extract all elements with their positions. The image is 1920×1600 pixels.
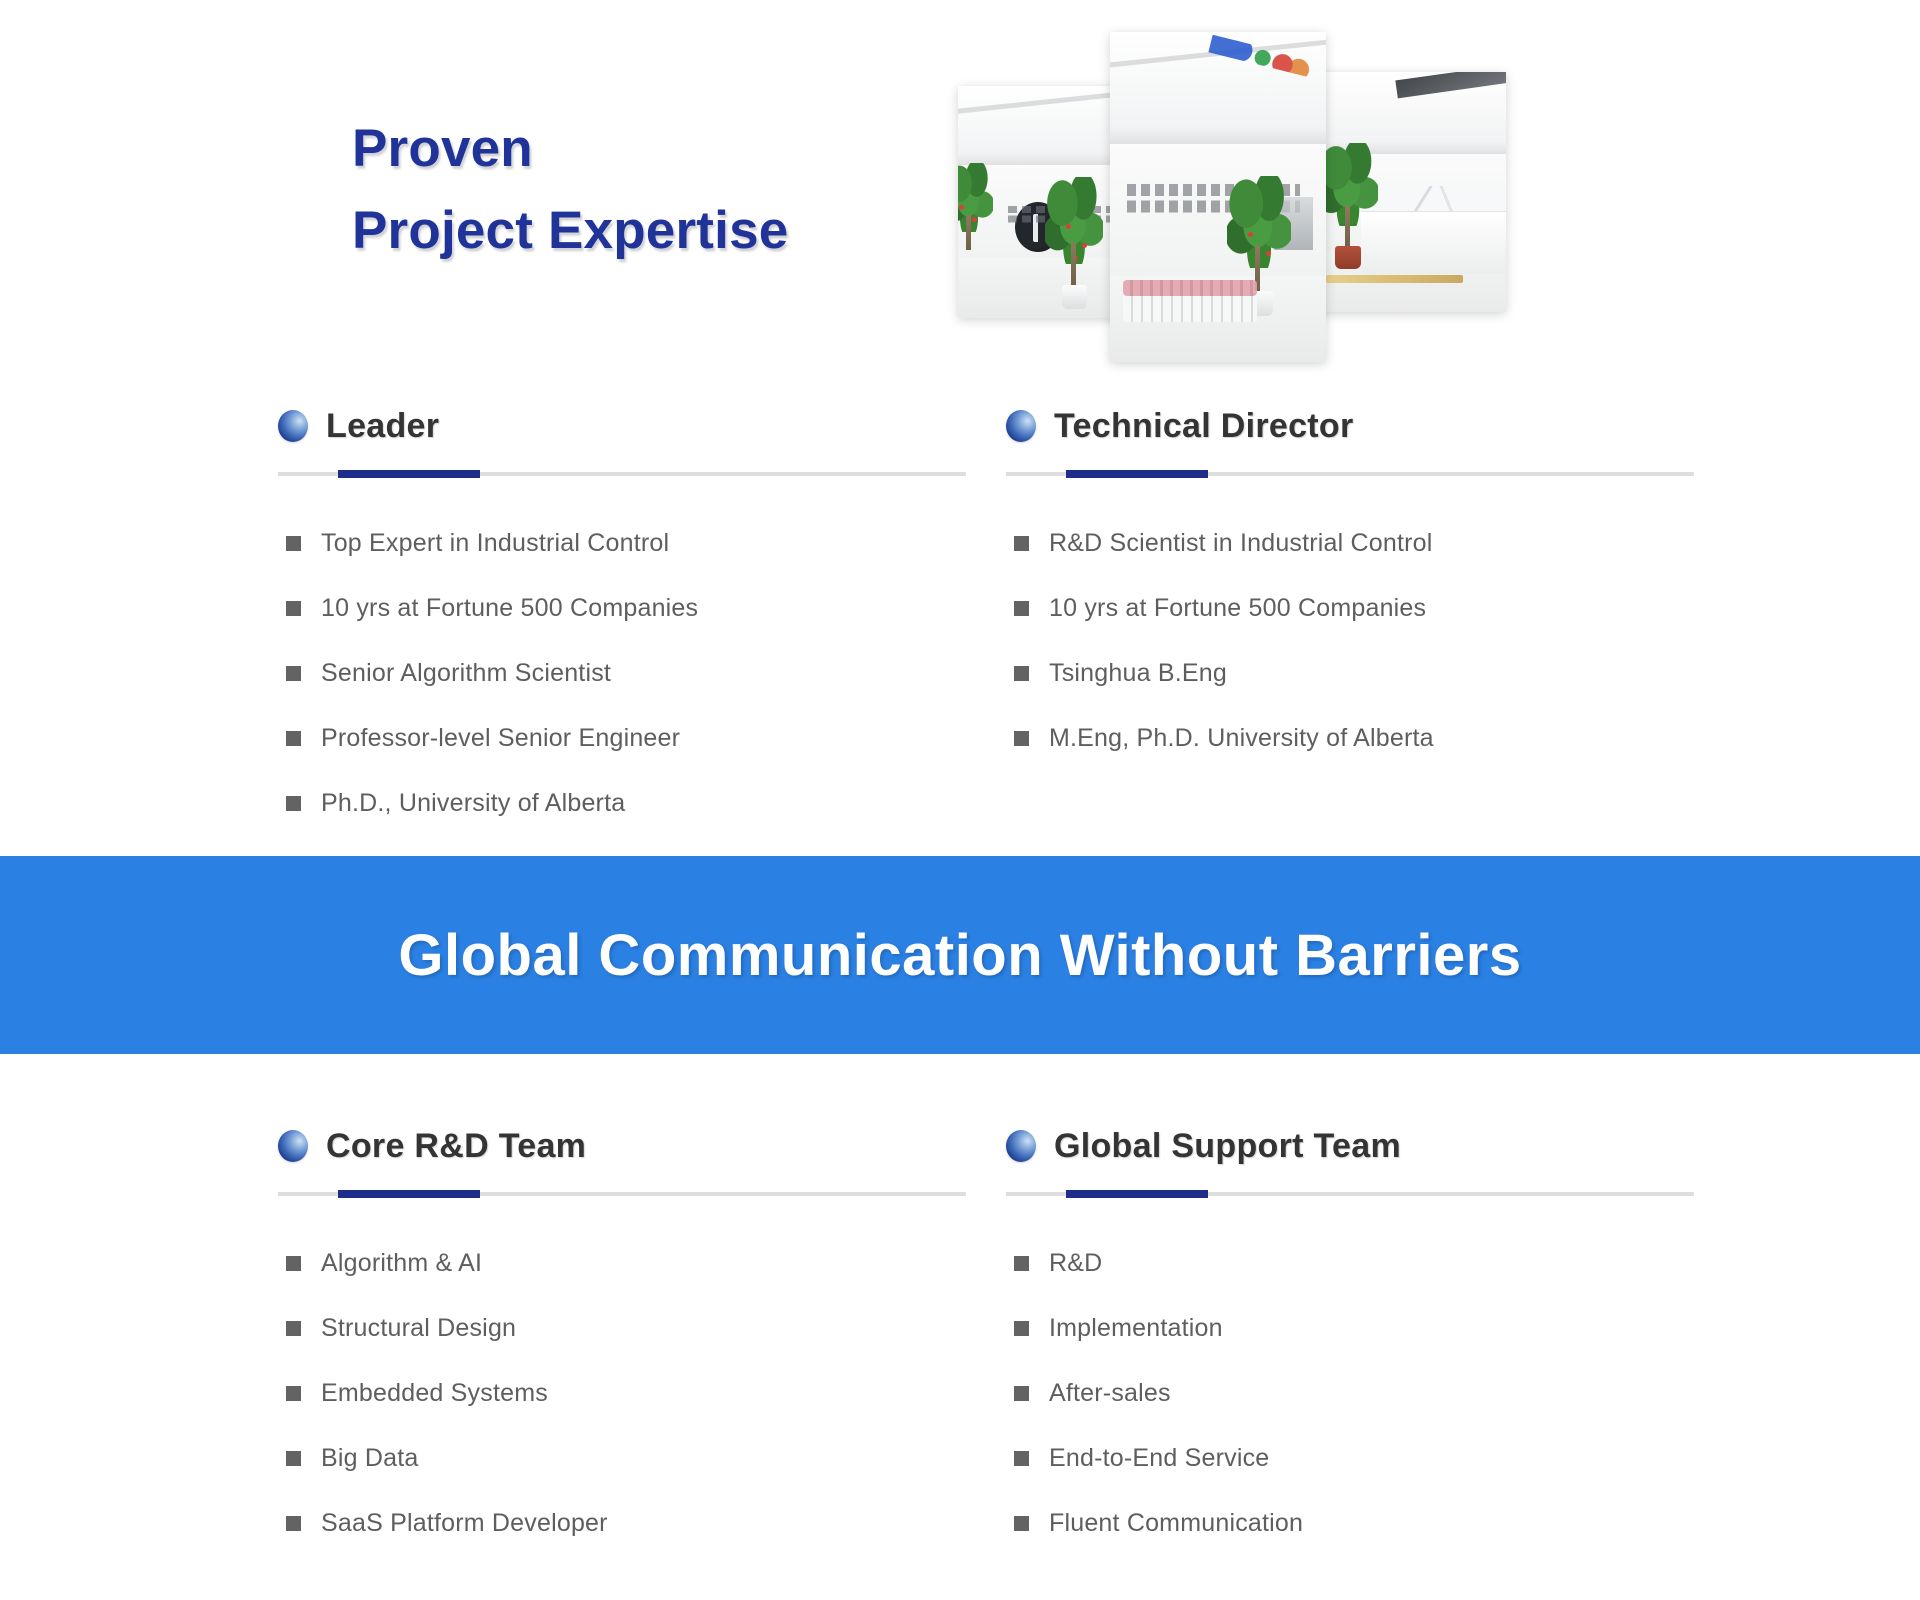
technical-director-column: Technical Director R&D Scientist in Indu…: [988, 398, 1698, 836]
list-item: 10 yrs at Fortune 500 Companies: [278, 576, 988, 641]
list-item-label: R&D: [1049, 1249, 1102, 1278]
divider-accent: [338, 1190, 480, 1198]
square-bullet-icon: [1014, 1256, 1029, 1271]
list-item: 10 yrs at Fortune 500 Companies: [1006, 576, 1698, 641]
divider-accent: [1066, 1190, 1208, 1198]
list-item: Algorithm & AI: [278, 1231, 988, 1296]
global-support-team-header: Global Support Team: [1006, 1118, 1698, 1174]
square-bullet-icon: [286, 1256, 301, 1271]
list-item-label: Algorithm & AI: [321, 1249, 482, 1278]
list-item: Big Data: [278, 1426, 988, 1491]
square-bullet-icon: [1014, 1516, 1029, 1531]
technical-director-header: Technical Director: [1006, 398, 1698, 454]
square-bullet-icon: [286, 1386, 301, 1401]
list-item-label: 10 yrs at Fortune 500 Companies: [321, 594, 698, 623]
sphere-bullet-icon: [1006, 410, 1036, 442]
global-support-team-column: Global Support Team R&D Implementation A…: [988, 1118, 1698, 1556]
list-item-label: R&D Scientist in Industrial Control: [1049, 529, 1433, 558]
global-support-team-divider: [1006, 1190, 1694, 1197]
sphere-bullet-icon: [1006, 1130, 1036, 1162]
list-item: R&D Scientist in Industrial Control: [1006, 511, 1698, 576]
square-bullet-icon: [286, 601, 301, 616]
page-title-line-1: Proven: [352, 108, 788, 190]
square-bullet-icon: [1014, 1451, 1029, 1466]
technical-director-title: Technical Director: [1054, 407, 1354, 446]
list-item-label: After-sales: [1049, 1379, 1171, 1408]
square-bullet-icon: [1014, 601, 1029, 616]
list-item-label: Professor-level Senior Engineer: [321, 724, 680, 753]
list-item: Embedded Systems: [278, 1361, 988, 1426]
list-item: Implementation: [1006, 1296, 1698, 1361]
photo-collage: [958, 32, 1506, 370]
office-lobby-corridor-photo: [1110, 32, 1326, 362]
list-item: R&D: [1006, 1231, 1698, 1296]
leadership-section: Leader Top Expert in Industrial Control …: [278, 398, 1698, 836]
teams-section: Core R&D Team Algorithm & AI Structural …: [278, 1118, 1698, 1556]
square-bullet-icon: [286, 1516, 301, 1531]
square-bullet-icon: [286, 731, 301, 746]
square-bullet-icon: [286, 666, 301, 681]
divider-accent: [338, 470, 480, 478]
leader-divider: [278, 470, 966, 477]
core-rd-team-column: Core R&D Team Algorithm & AI Structural …: [278, 1118, 988, 1556]
square-bullet-icon: [1014, 536, 1029, 551]
core-rd-team-divider: [278, 1190, 966, 1197]
list-item-label: Fluent Communication: [1049, 1509, 1303, 1538]
leader-title: Leader: [326, 407, 439, 446]
list-item-label: 10 yrs at Fortune 500 Companies: [1049, 594, 1426, 623]
global-support-team-title: Global Support Team: [1054, 1127, 1401, 1166]
page-title-line-2: Project Expertise: [352, 190, 788, 272]
list-item: Ph.D., University of Alberta: [278, 771, 988, 836]
list-item: Fluent Communication: [1006, 1491, 1698, 1556]
office-entrance-wall-logo-photo: [958, 86, 1126, 318]
banner-title: Global Communication Without Barriers: [398, 922, 1521, 989]
list-item: Top Expert in Industrial Control: [278, 511, 988, 576]
office-reception-desk-photo: [1310, 72, 1506, 312]
square-bullet-icon: [286, 1451, 301, 1466]
core-rd-team-list: Algorithm & AI Structural Design Embedde…: [278, 1231, 988, 1556]
list-item: Structural Design: [278, 1296, 988, 1361]
leader-column: Leader Top Expert in Industrial Control …: [278, 398, 988, 836]
square-bullet-icon: [1014, 666, 1029, 681]
list-item-label: Ph.D., University of Alberta: [321, 789, 625, 818]
list-item: M.Eng, Ph.D. University of Alberta: [1006, 706, 1698, 771]
list-item-label: Structural Design: [321, 1314, 516, 1343]
sphere-bullet-icon: [278, 1130, 308, 1162]
divider-accent: [1066, 470, 1208, 478]
list-item-label: Senior Algorithm Scientist: [321, 659, 611, 688]
list-item-label: Tsinghua B.Eng: [1049, 659, 1227, 688]
list-item: Senior Algorithm Scientist: [278, 641, 988, 706]
list-item: Tsinghua B.Eng: [1006, 641, 1698, 706]
list-item-label: M.Eng, Ph.D. University of Alberta: [1049, 724, 1434, 753]
square-bullet-icon: [286, 796, 301, 811]
list-item-label: Big Data: [321, 1444, 419, 1473]
global-support-team-list: R&D Implementation After-sales End-to-En…: [1006, 1231, 1698, 1556]
square-bullet-icon: [1014, 731, 1029, 746]
core-rd-team-title: Core R&D Team: [326, 1127, 586, 1166]
technical-director-list: R&D Scientist in Industrial Control 10 y…: [1006, 511, 1698, 771]
leader-header: Leader: [278, 398, 988, 454]
list-item: SaaS Platform Developer: [278, 1491, 988, 1556]
square-bullet-icon: [1014, 1321, 1029, 1336]
technical-director-divider: [1006, 470, 1694, 477]
page-title: Proven Project Expertise: [352, 108, 788, 272]
sphere-bullet-icon: [278, 410, 308, 442]
list-item: Professor-level Senior Engineer: [278, 706, 988, 771]
core-rd-team-header: Core R&D Team: [278, 1118, 988, 1174]
list-item-label: Top Expert in Industrial Control: [321, 529, 669, 558]
list-item: After-sales: [1006, 1361, 1698, 1426]
list-item-label: SaaS Platform Developer: [321, 1509, 608, 1538]
global-communication-banner: Global Communication Without Barriers: [0, 856, 1920, 1054]
square-bullet-icon: [286, 536, 301, 551]
square-bullet-icon: [286, 1321, 301, 1336]
list-item-label: End-to-End Service: [1049, 1444, 1269, 1473]
list-item: End-to-End Service: [1006, 1426, 1698, 1491]
square-bullet-icon: [1014, 1386, 1029, 1401]
list-item-label: Implementation: [1049, 1314, 1223, 1343]
leader-list: Top Expert in Industrial Control 10 yrs …: [278, 511, 988, 836]
list-item-label: Embedded Systems: [321, 1379, 548, 1408]
